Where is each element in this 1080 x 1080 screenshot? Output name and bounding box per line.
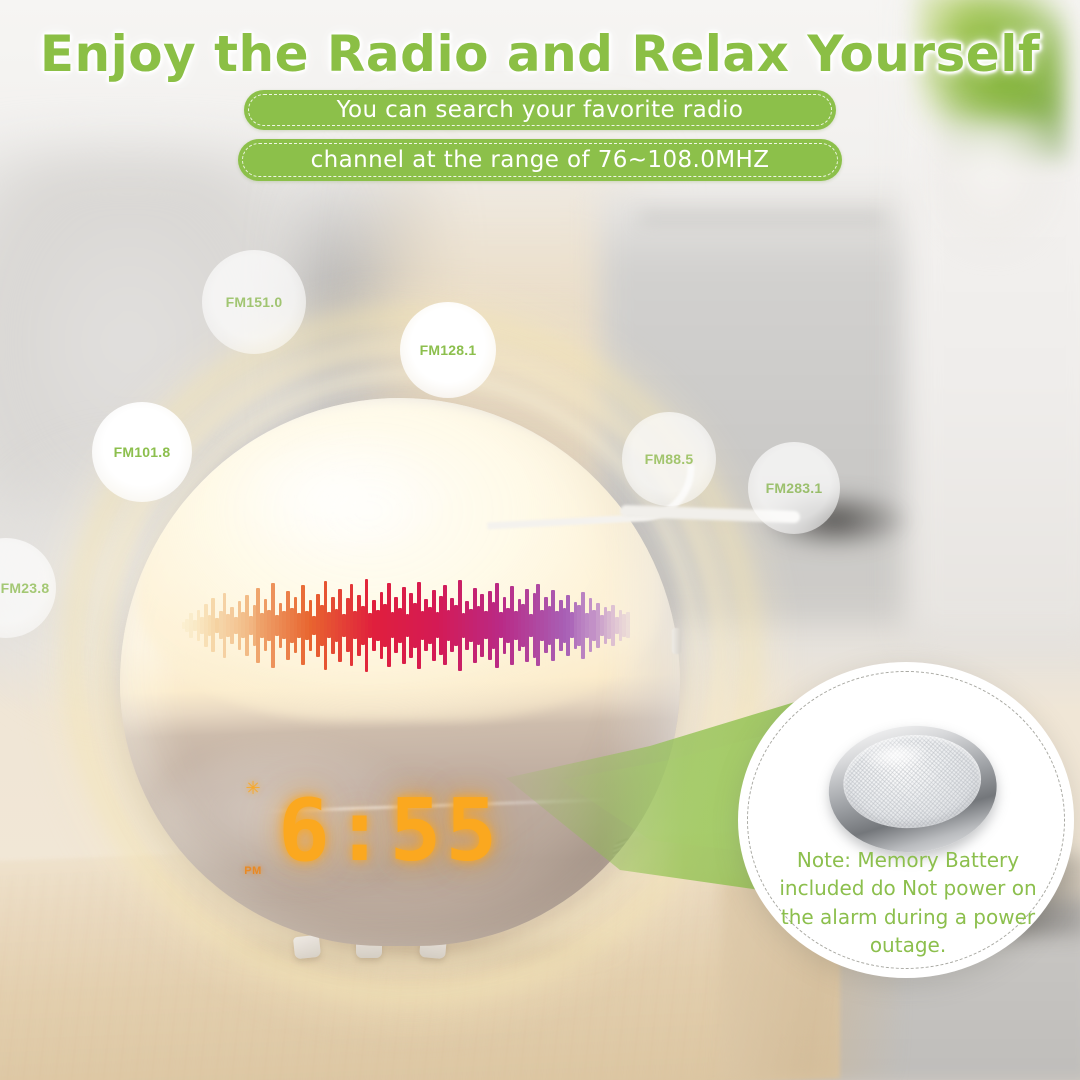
waveform-bar (193, 620, 197, 631)
audio-waveform-chart (182, 579, 630, 672)
fm-badge-151-0[interactable]: FM151.0 (202, 250, 306, 354)
headline-block: Enjoy the Radio and Relax Yourself You c… (0, 28, 1080, 181)
waveform-bar (488, 591, 492, 660)
fm-badge-label: FM88.5 (645, 451, 694, 467)
pm-indicator: PM (244, 865, 262, 877)
subtitle-pill-2: channel at the range of 76~108.0MHZ (238, 139, 842, 181)
battery-note-text: Note: Memory Battery included do Not pow… (768, 846, 1048, 960)
led-indicator-column: ✳ PM (232, 771, 274, 892)
waveform-bar (626, 612, 630, 638)
background-cabinet-edge (640, 215, 885, 221)
page-title: Enjoy the Radio and Relax Yourself (0, 28, 1080, 81)
fm-badge-88-5[interactable]: FM88.5 (622, 412, 716, 506)
waveform-bar (432, 590, 436, 661)
waveform-bar (559, 600, 563, 650)
fm-badge-label: FM128.1 (420, 342, 477, 358)
coin-battery-icon (825, 720, 1001, 857)
battery-callout: Note: Memory Battery included do Not pow… (738, 662, 1074, 978)
fm-badge-label: FM283.1 (766, 480, 823, 496)
waveform-bar (249, 616, 253, 635)
fm-badge-128-1[interactable]: FM128.1 (400, 302, 496, 398)
fm-badge-label: FM101.8 (114, 444, 171, 460)
subtitle-pill-1: You can search your favorite radio (244, 90, 836, 130)
fm-badge-label: FM151.0 (226, 294, 283, 310)
device-highlight (210, 425, 456, 567)
waveform-bar (320, 605, 324, 646)
subtitle-pill-1-label: You can search your favorite radio (337, 97, 744, 123)
subtitle-pill-2-label: channel at the range of 76~108.0MHZ (311, 147, 770, 173)
fm-badge-283-1[interactable]: FM283.1 (748, 442, 840, 534)
waveform-bar (615, 617, 619, 634)
side-button[interactable] (672, 628, 681, 654)
fm-badge-label: FM23.8 (0, 580, 49, 596)
sun-icon: ✳ (246, 781, 261, 796)
fm-badge-101-8[interactable]: FM101.8 (92, 402, 192, 502)
waveform-bar (253, 605, 257, 646)
waveform-bar (376, 610, 380, 642)
device-foot (293, 935, 321, 960)
